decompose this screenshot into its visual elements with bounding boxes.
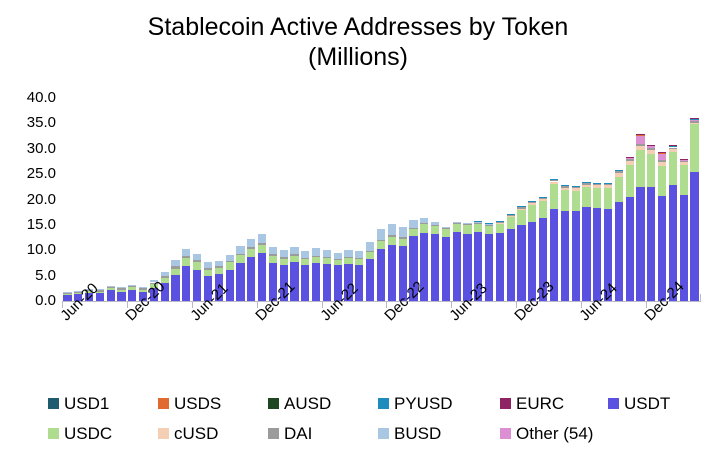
bar-column (485, 98, 493, 301)
bar-segment-other-54 (626, 158, 634, 159)
bar-segment-busd (193, 254, 201, 261)
bar-segment-usdc (204, 270, 212, 276)
plot-area (62, 98, 700, 301)
bar-segment-usdt (636, 187, 644, 301)
bar-segment-dai (290, 254, 298, 256)
bar-segment-usdt (312, 263, 320, 301)
bar-column (593, 98, 601, 301)
y-axis-tick-label: 5.0 (0, 268, 56, 283)
legend-item-usdt[interactable]: USDT (608, 392, 670, 414)
bar-segment-usdt (323, 264, 331, 301)
legend-swatch-icon (268, 398, 279, 409)
bar-segment-dai (366, 251, 374, 252)
bar-segment-usdc (420, 224, 428, 232)
bar-segment-dai (485, 225, 493, 226)
bar-segment-usdc (182, 258, 190, 266)
bar-segment-dai (453, 223, 461, 224)
bar-segment-usdt (453, 232, 461, 301)
bar-column (377, 98, 385, 301)
bar-segment-usdt (517, 225, 525, 301)
bar-segment-usdt (690, 172, 698, 301)
legend-item-usds[interactable]: USDS (158, 392, 221, 414)
bar-segment-cusd (593, 185, 601, 188)
x-axis-labels: Jun-20Dec-20Jun-21Dec-21Jun-22Dec-22Jun-… (0, 301, 716, 381)
legend-label: USDS (174, 395, 221, 412)
legend-label: AUSD (284, 395, 331, 412)
bar-segment-busd (431, 222, 439, 225)
bar-segment-pyusd (528, 201, 536, 202)
y-axis-tick-label: 15.0 (0, 217, 56, 232)
bar-segment-usdt (431, 234, 439, 301)
bar-segment-cusd (626, 161, 634, 165)
legend-swatch-icon (378, 398, 389, 409)
bar-segment-eurc (669, 145, 677, 146)
bar-column (420, 98, 428, 301)
bar-segment-cusd (517, 209, 525, 211)
bar-column (463, 98, 471, 301)
bar-segment-busd (117, 287, 125, 288)
bar-segment-usdt (658, 196, 666, 301)
bar-segment-cusd (572, 188, 580, 191)
bar-segment-usdc (63, 294, 71, 295)
bar-segment-eurc (690, 118, 698, 119)
bar-column (280, 98, 288, 301)
bar-column (204, 98, 212, 301)
bar-column (74, 98, 82, 301)
bar-segment-dai (572, 187, 580, 189)
bar-column (301, 98, 309, 301)
bar-segment-pyusd (507, 214, 515, 215)
bar-column (139, 98, 147, 301)
bar-segment-other-54 (636, 136, 644, 144)
bar-segment-dai (312, 256, 320, 257)
bar-segment-busd (355, 251, 363, 258)
bar-column (193, 98, 201, 301)
bar-column (517, 98, 525, 301)
bar-segment-dai (63, 293, 71, 294)
bar-segment-eurc (680, 159, 688, 160)
bar-segment-usdc (647, 154, 655, 187)
bar-column (669, 98, 677, 301)
legend-label: Other (54) (516, 425, 593, 442)
bar-segment-usdc (366, 252, 374, 259)
legend-swatch-icon (158, 428, 169, 439)
bar-column (236, 98, 244, 301)
bar-segment-dai (528, 202, 536, 203)
bar-segment-usdt (236, 263, 244, 301)
chart-title: Stablecoin Active Addresses by Token (Mi… (0, 12, 716, 72)
bar-segment-eurc (626, 157, 634, 158)
bar-segment-dai (388, 235, 396, 236)
bar-segment-usdc (226, 262, 234, 269)
bar-segment-cusd (636, 146, 644, 151)
bar-segment-usdt (572, 211, 580, 301)
bar-segment-pyusd (517, 206, 525, 207)
bar-segment-usdc (572, 191, 580, 211)
legend-item-usdc[interactable]: USDC (48, 422, 112, 444)
bar-segment-busd (280, 250, 288, 257)
y-axis-tick-label: 40.0 (0, 90, 56, 105)
bar-segment-usdt (507, 229, 515, 301)
bar-segment-usdc (507, 217, 515, 229)
bar-segment-usdt (301, 265, 309, 301)
bar-segment-usdc (236, 255, 244, 263)
y-axis-tick-label: 10.0 (0, 242, 56, 257)
bar-segment-cusd (604, 185, 612, 188)
bar-segment-cusd (690, 123, 698, 125)
bar-segment-dai (193, 260, 201, 262)
bar-column (226, 98, 234, 301)
bar-column (658, 98, 666, 301)
bar-column (85, 98, 93, 301)
legend-item-usd1[interactable]: USD1 (48, 392, 109, 414)
bar-segment-busd (226, 255, 234, 261)
bar-segment-usdc (680, 165, 688, 195)
bar-segment-eurc (647, 145, 655, 146)
bar-segment-busd (409, 220, 417, 228)
bar-segment-busd (366, 242, 374, 251)
bar-segment-busd (269, 247, 277, 255)
bar-segment-usdc (215, 268, 223, 275)
bar-segment-usdt (442, 237, 450, 301)
bar-segment-pyusd (561, 185, 569, 186)
bar-segment-pyusd (582, 182, 590, 183)
bar-segment-usdt (171, 275, 179, 301)
bar-segment-dai (431, 225, 439, 226)
bar-column (182, 98, 190, 301)
legend-label: PYUSD (394, 395, 453, 412)
bar-column (161, 98, 169, 301)
legend-label: DAI (284, 425, 312, 442)
bar-segment-eurc (636, 134, 644, 135)
bar-segment-usdc (193, 262, 201, 269)
bar-segment-busd (323, 250, 331, 258)
bar-segment-dai (226, 261, 234, 263)
bar-segment-dai (301, 258, 309, 259)
bar-segment-other-54 (647, 146, 655, 148)
bar-segment-dai (507, 215, 515, 216)
bar-segment-usdc (593, 188, 601, 208)
bar-column (550, 98, 558, 301)
bar-segment-usdc (626, 165, 634, 197)
bar-segment-other-54 (658, 154, 666, 161)
bar-segment-dai (517, 207, 525, 208)
bar-segment-usdc (334, 260, 342, 265)
bar-segment-cusd (550, 182, 558, 184)
legend-swatch-icon (500, 428, 511, 439)
legend-label: EURC (516, 395, 564, 412)
bar-segment-dai (636, 144, 644, 146)
bar-segment-usdc (355, 259, 363, 265)
bar-segment-usdc (690, 124, 698, 171)
bar-segment-dai (280, 257, 288, 259)
bar-segment-dai (626, 159, 634, 161)
legend-item-ausd[interactable]: AUSD (268, 392, 331, 414)
bar-segment-usdc (312, 257, 320, 263)
bar-segment-eurc (658, 152, 666, 153)
bar-segment-dai (161, 276, 169, 278)
bar-segment-usdc (463, 225, 471, 233)
bar-segment-usdc (582, 187, 590, 206)
bar-segment-usdt (182, 266, 190, 301)
bar-column (258, 98, 266, 301)
bar-segment-dai (658, 160, 666, 162)
bar-segment-pyusd (496, 221, 504, 222)
bar-segment-usdc (171, 269, 179, 276)
bar-column (366, 98, 374, 301)
bar-segment-usdc (323, 258, 331, 264)
bar-segment-dai (236, 254, 244, 256)
legend-label: BUSD (394, 425, 441, 442)
chart-title-line2: (Millions) (0, 42, 716, 72)
bar-column (474, 98, 482, 301)
chart-legend: USD1USDSAUSDPYUSDEURCUSDTUSDCcUSDDAIBUSD… (48, 392, 688, 448)
bar-column (247, 98, 255, 301)
legend-label: USDC (64, 425, 112, 442)
legend-label: USD1 (64, 395, 109, 412)
bar-segment-usdt (388, 245, 396, 301)
bar-segment-busd (107, 286, 115, 287)
bar-segment-dai (474, 223, 482, 224)
bar-segment-usdt (258, 253, 266, 301)
bar-column (63, 98, 71, 301)
bar-column (690, 98, 698, 301)
bar-column (290, 98, 298, 301)
bar-segment-usdc (258, 245, 266, 254)
bar-column (572, 98, 580, 301)
bar-segment-pyusd (539, 197, 547, 198)
bar-segment-dai (182, 256, 190, 259)
legend-swatch-icon (608, 398, 619, 409)
bar-segment-usdc (561, 190, 569, 210)
bar-segment-cusd (680, 162, 688, 165)
bar-segment-busd (161, 272, 169, 276)
bar-segment-cusd (528, 203, 536, 205)
bar-segment-dai (117, 288, 125, 290)
bar-segment-usdc (117, 290, 125, 292)
legend-swatch-icon (48, 398, 59, 409)
bar-column (507, 98, 515, 301)
bar-segment-busd (204, 262, 212, 267)
bar-segment-cusd (658, 162, 666, 166)
bar-segment-usdt (247, 257, 255, 301)
bar-segment-dai (355, 258, 363, 259)
bar-segment-usdc (442, 229, 450, 236)
bar-segment-usdt (117, 292, 125, 301)
bar-segment-dai (496, 222, 504, 223)
bar-segment-dai (204, 268, 212, 270)
bar-column (582, 98, 590, 301)
legend-swatch-icon (378, 428, 389, 439)
bar-segment-pyusd (604, 183, 612, 184)
bar-segment-usdc (604, 188, 612, 208)
bar-segment-dai (647, 148, 655, 150)
bar-segment-dai (377, 240, 385, 241)
bar-column (344, 98, 352, 301)
bar-column (647, 98, 655, 301)
chart-container: Stablecoin Active Addresses by Token (Mi… (0, 0, 716, 455)
bar-segment-busd (301, 251, 309, 258)
bar-column (355, 98, 363, 301)
bar-segment-busd (442, 227, 450, 229)
bar-segment-usdc (377, 241, 385, 249)
bar-segment-cusd (647, 150, 655, 154)
bar-segment-usdc (615, 177, 623, 202)
legend-label: USDT (624, 395, 670, 412)
bar-segment-usdc (409, 229, 417, 236)
bar-segment-dai (550, 180, 558, 182)
bar-segment-dai (409, 228, 417, 229)
bar-column (496, 98, 504, 301)
bar-segment-usdt (377, 249, 385, 301)
bar-segment-usdt (193, 270, 201, 301)
bar-segment-usdt (366, 259, 374, 301)
bar-column (269, 98, 277, 301)
bar-segment-busd (258, 234, 266, 243)
bar-segment-dai (323, 257, 331, 258)
bar-segment-usdt (561, 211, 569, 301)
bar-column (334, 98, 342, 301)
bar-segment-dai (615, 171, 623, 173)
bar-segment-usdc (517, 210, 525, 225)
bar-segment-busd (312, 248, 320, 256)
bar-segment-usdc (669, 152, 677, 185)
bar-segment-dai (258, 243, 266, 245)
bar-segment-dai (269, 254, 277, 256)
bar-segment-busd (128, 285, 136, 286)
bar-segment-dai (593, 184, 601, 186)
bar-segment-usdt (582, 207, 590, 301)
legend-label: cUSD (174, 425, 218, 442)
legend-item-other-54[interactable]: Other (54) (500, 422, 593, 444)
legend-item-busd[interactable]: BUSD (378, 422, 441, 444)
bar-segment-busd (290, 247, 298, 255)
bar-segment-cusd (615, 173, 623, 177)
bar-column (128, 98, 136, 301)
bar-segment-busd (215, 261, 223, 266)
bar-segment-usdc (474, 224, 482, 232)
bar-column (323, 98, 331, 301)
bar-segment-busd (377, 229, 385, 240)
bar-segment-cusd (582, 185, 590, 188)
bar-column (615, 98, 623, 301)
bar-column (388, 98, 396, 301)
bar-segment-busd (171, 260, 179, 266)
bar-segment-usdc (550, 184, 558, 209)
bar-segment-dai (107, 287, 115, 289)
bar-segment-usdc (344, 258, 352, 264)
bar-segment-usdc (636, 150, 644, 187)
bar-column (117, 98, 125, 301)
bar-segment-usdc (431, 226, 439, 234)
bar-segment-pyusd (593, 183, 601, 184)
bar-segment-dai (582, 183, 590, 185)
bar-column (539, 98, 547, 301)
bar-segment-dai (539, 198, 547, 199)
bar-segment-usdc (453, 224, 461, 232)
bar-segment-pyusd (485, 223, 493, 224)
bar-segment-usdc (528, 205, 536, 222)
bar-column (96, 98, 104, 301)
bar-column (442, 98, 450, 301)
bar-column (636, 98, 644, 301)
bar-segment-busd (182, 249, 190, 256)
bar-segment-usdc (128, 287, 136, 290)
bar-segment-usdc (107, 288, 115, 290)
bar-column (312, 98, 320, 301)
bar-segment-usdt (647, 187, 655, 301)
legend-item-cusd[interactable]: cUSD (158, 422, 218, 444)
bar-segment-dai (344, 257, 352, 258)
bar-segment-busd (344, 250, 352, 257)
legend-item-dai[interactable]: DAI (268, 422, 312, 444)
bar-segment-dai (604, 184, 612, 186)
bar-segment-usdt (626, 197, 634, 301)
bar-segment-dai (463, 224, 471, 225)
y-axis-tick-label: 20.0 (0, 192, 56, 207)
bar-segment-busd (463, 223, 471, 224)
bar-segment-pyusd (550, 179, 558, 180)
bar-segment-dai (128, 286, 136, 288)
bar-segment-pyusd (615, 170, 623, 171)
bar-segment-dai (442, 228, 450, 229)
legend-item-eurc[interactable]: EURC (500, 392, 564, 414)
legend-swatch-icon (158, 398, 169, 409)
bar-segment-cusd (539, 199, 547, 201)
bar-segment-usdc (399, 239, 407, 247)
bar-column (409, 98, 417, 301)
bar-column (431, 98, 439, 301)
bar-segment-busd (453, 222, 461, 223)
bar-segment-dai (399, 237, 407, 238)
bar-segment-dai (669, 148, 677, 150)
bar-segment-usdc (496, 224, 504, 233)
bar-segment-dai (680, 161, 688, 163)
bar-segment-usdc (539, 201, 547, 218)
bar-segment-usdc (658, 166, 666, 197)
chart-title-line1: Stablecoin Active Addresses by Token (148, 13, 569, 41)
bar-segment-busd (63, 292, 71, 293)
bar-segment-usdt (496, 233, 504, 301)
legend-swatch-icon (48, 428, 59, 439)
legend-swatch-icon (500, 398, 511, 409)
bar-segment-usdc (247, 249, 255, 257)
bar-segment-busd (247, 239, 255, 247)
bar-column (453, 98, 461, 301)
bar-segment-usdc (290, 256, 298, 263)
bar-segment-dai (334, 259, 342, 260)
bar-segment-cusd (669, 149, 677, 152)
bar-column (604, 98, 612, 301)
bar-segment-usdc (388, 237, 396, 245)
bar-segment-pyusd (474, 221, 482, 222)
legend-swatch-icon (268, 428, 279, 439)
bar-segment-busd (334, 253, 342, 260)
bar-segment-dai (690, 121, 698, 123)
y-axis-labels: 0.05.010.015.020.025.030.035.040.0 (0, 88, 56, 312)
bar-segment-dai (561, 186, 569, 188)
legend-item-pyusd[interactable]: PYUSD (378, 392, 453, 414)
bar-segment-dai (215, 266, 223, 268)
bar-column (215, 98, 223, 301)
bar-segment-usdc (269, 256, 277, 263)
bar-column (171, 98, 179, 301)
bar-segment-cusd (507, 216, 515, 217)
bar-column (107, 98, 115, 301)
bar-segment-usdt (107, 290, 115, 301)
bar-segment-dai (171, 266, 179, 269)
bar-column (399, 98, 407, 301)
